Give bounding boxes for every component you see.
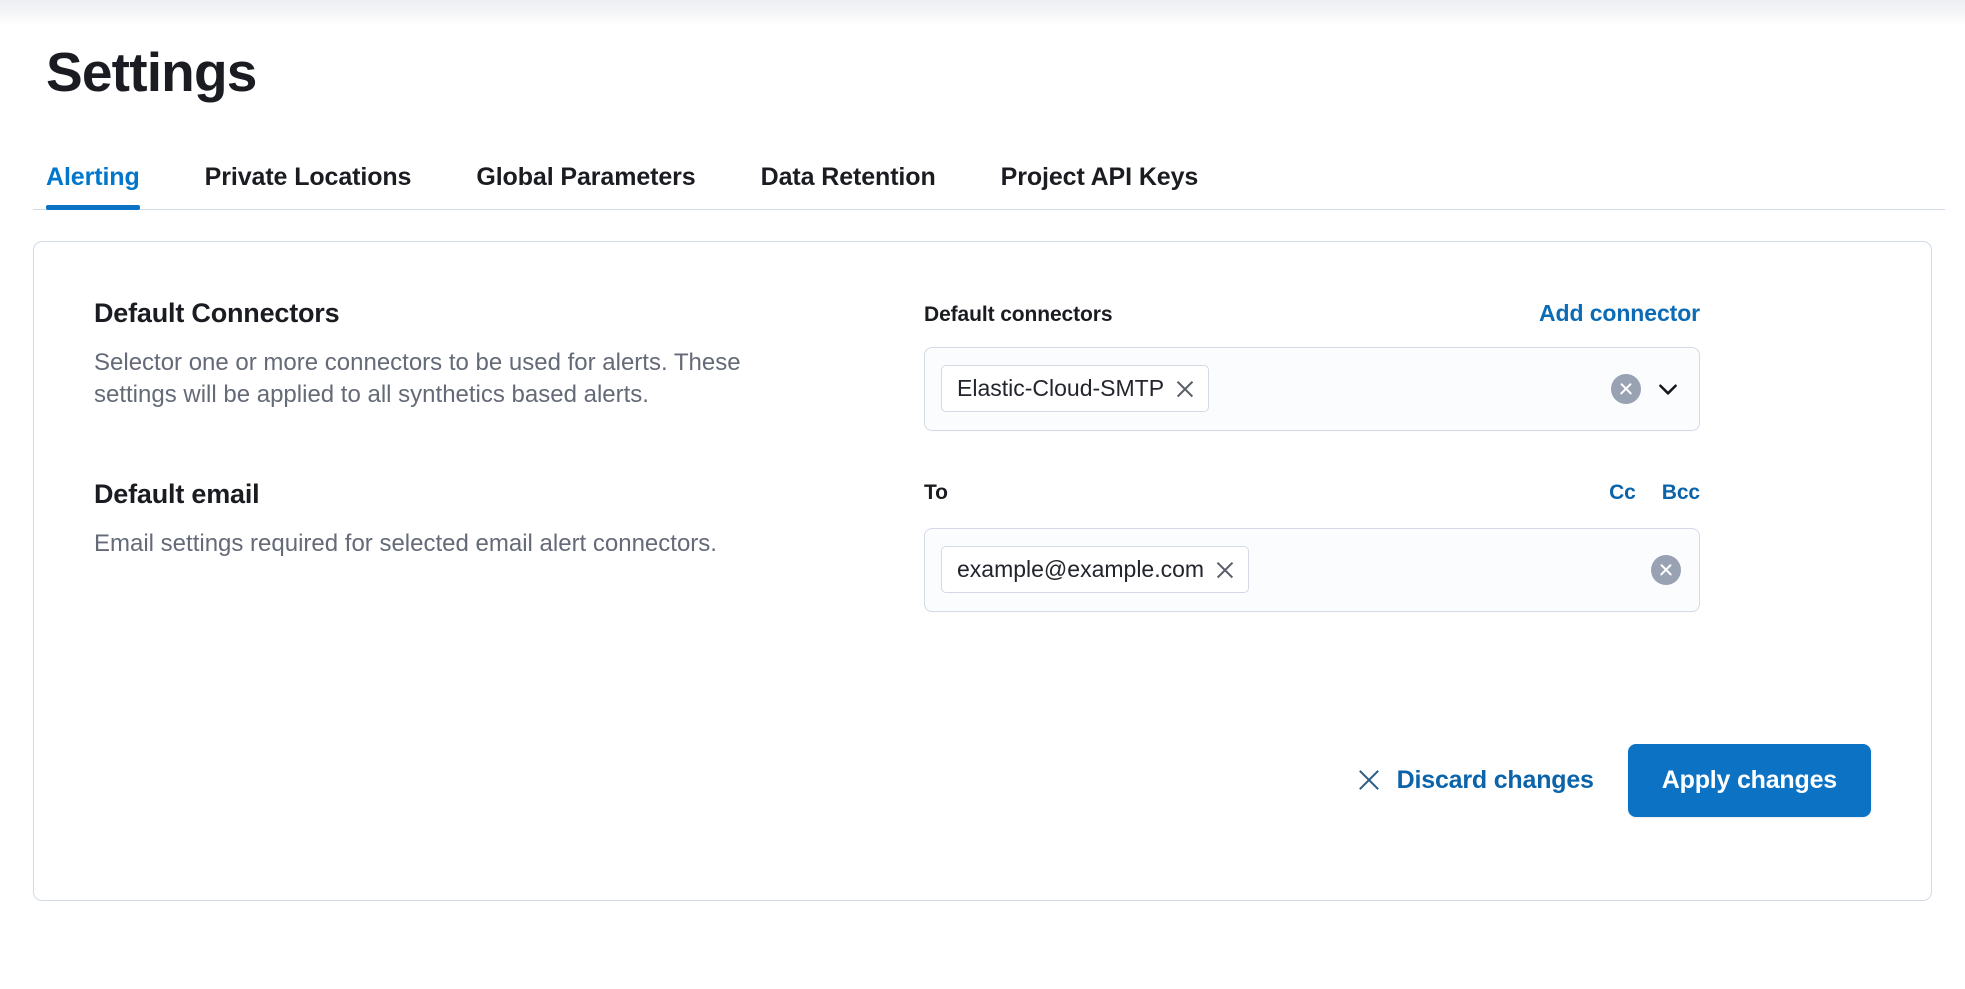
email-combobox-actions [1651, 555, 1681, 585]
to-email-combobox[interactable]: example@example.com [924, 528, 1700, 612]
connector-pill-label: Elastic-Cloud-SMTP [957, 375, 1164, 402]
default-email-field-block: To Cc Bcc example@example.com [924, 479, 1700, 612]
chevron-down-icon[interactable] [1655, 376, 1681, 402]
top-gradient-strip [0, 0, 1965, 26]
default-email-section: Default email Email settings required fo… [94, 479, 1871, 612]
default-connectors-description-block: Default Connectors Selector one or more … [94, 298, 924, 412]
settings-tabs: Alerting Private Locations Global Parame… [46, 148, 1932, 210]
default-connectors-title: Default Connectors [94, 298, 884, 329]
settings-page: Settings Alerting Private Locations Glob… [0, 0, 1965, 989]
discard-changes-label: Discard changes [1397, 766, 1594, 795]
default-email-description: Email settings required for selected ema… [94, 528, 824, 560]
discard-changes-button[interactable]: Discard changes [1345, 756, 1606, 805]
alerting-settings-card: Default Connectors Selector one or more … [33, 241, 1932, 901]
connectors-combobox-actions [1611, 374, 1681, 404]
clear-circle-icon[interactable] [1611, 374, 1641, 404]
page-title: Settings [46, 44, 1932, 102]
tab-data-retention[interactable]: Data Retention [761, 163, 936, 210]
cc-link[interactable]: Cc [1609, 481, 1636, 505]
clear-circle-icon[interactable] [1651, 555, 1681, 585]
default-email-field-header: To Cc Bcc [924, 481, 1700, 511]
default-connectors-field-label: Default connectors [924, 303, 1112, 327]
remove-connector-icon[interactable] [1175, 379, 1195, 399]
tab-global-parameters[interactable]: Global Parameters [476, 163, 695, 210]
tab-project-api-keys[interactable]: Project API Keys [1001, 163, 1199, 210]
page-content: Settings Alerting Private Locations Glob… [0, 44, 1965, 901]
default-connectors-field-header: Default connectors Add connector [924, 300, 1700, 330]
tab-private-locations[interactable]: Private Locations [205, 163, 412, 210]
add-connector-link[interactable]: Add connector [1539, 300, 1700, 327]
default-email-title: Default email [94, 479, 884, 510]
connector-pill[interactable]: Elastic-Cloud-SMTP [941, 365, 1209, 412]
apply-changes-button[interactable]: Apply changes [1628, 744, 1871, 817]
bcc-link[interactable]: Bcc [1662, 481, 1700, 505]
card-footer-actions: Discard changes Apply changes [94, 744, 1871, 817]
remove-email-icon[interactable] [1215, 560, 1235, 580]
default-connectors-combobox[interactable]: Elastic-Cloud-SMTP [924, 347, 1700, 431]
default-connectors-section: Default Connectors Selector one or more … [94, 298, 1871, 431]
email-pill[interactable]: example@example.com [941, 546, 1249, 593]
email-pill-label: example@example.com [957, 556, 1204, 583]
cc-bcc-links: Cc Bcc [1609, 481, 1700, 505]
close-x-icon [1357, 768, 1381, 792]
default-connectors-field-block: Default connectors Add connector Elastic… [924, 298, 1700, 431]
default-connectors-description: Selector one or more connectors to be us… [94, 347, 824, 412]
to-field-label: To [924, 481, 948, 505]
default-email-description-block: Default email Email settings required fo… [94, 479, 924, 560]
tab-alerting[interactable]: Alerting [46, 163, 140, 210]
